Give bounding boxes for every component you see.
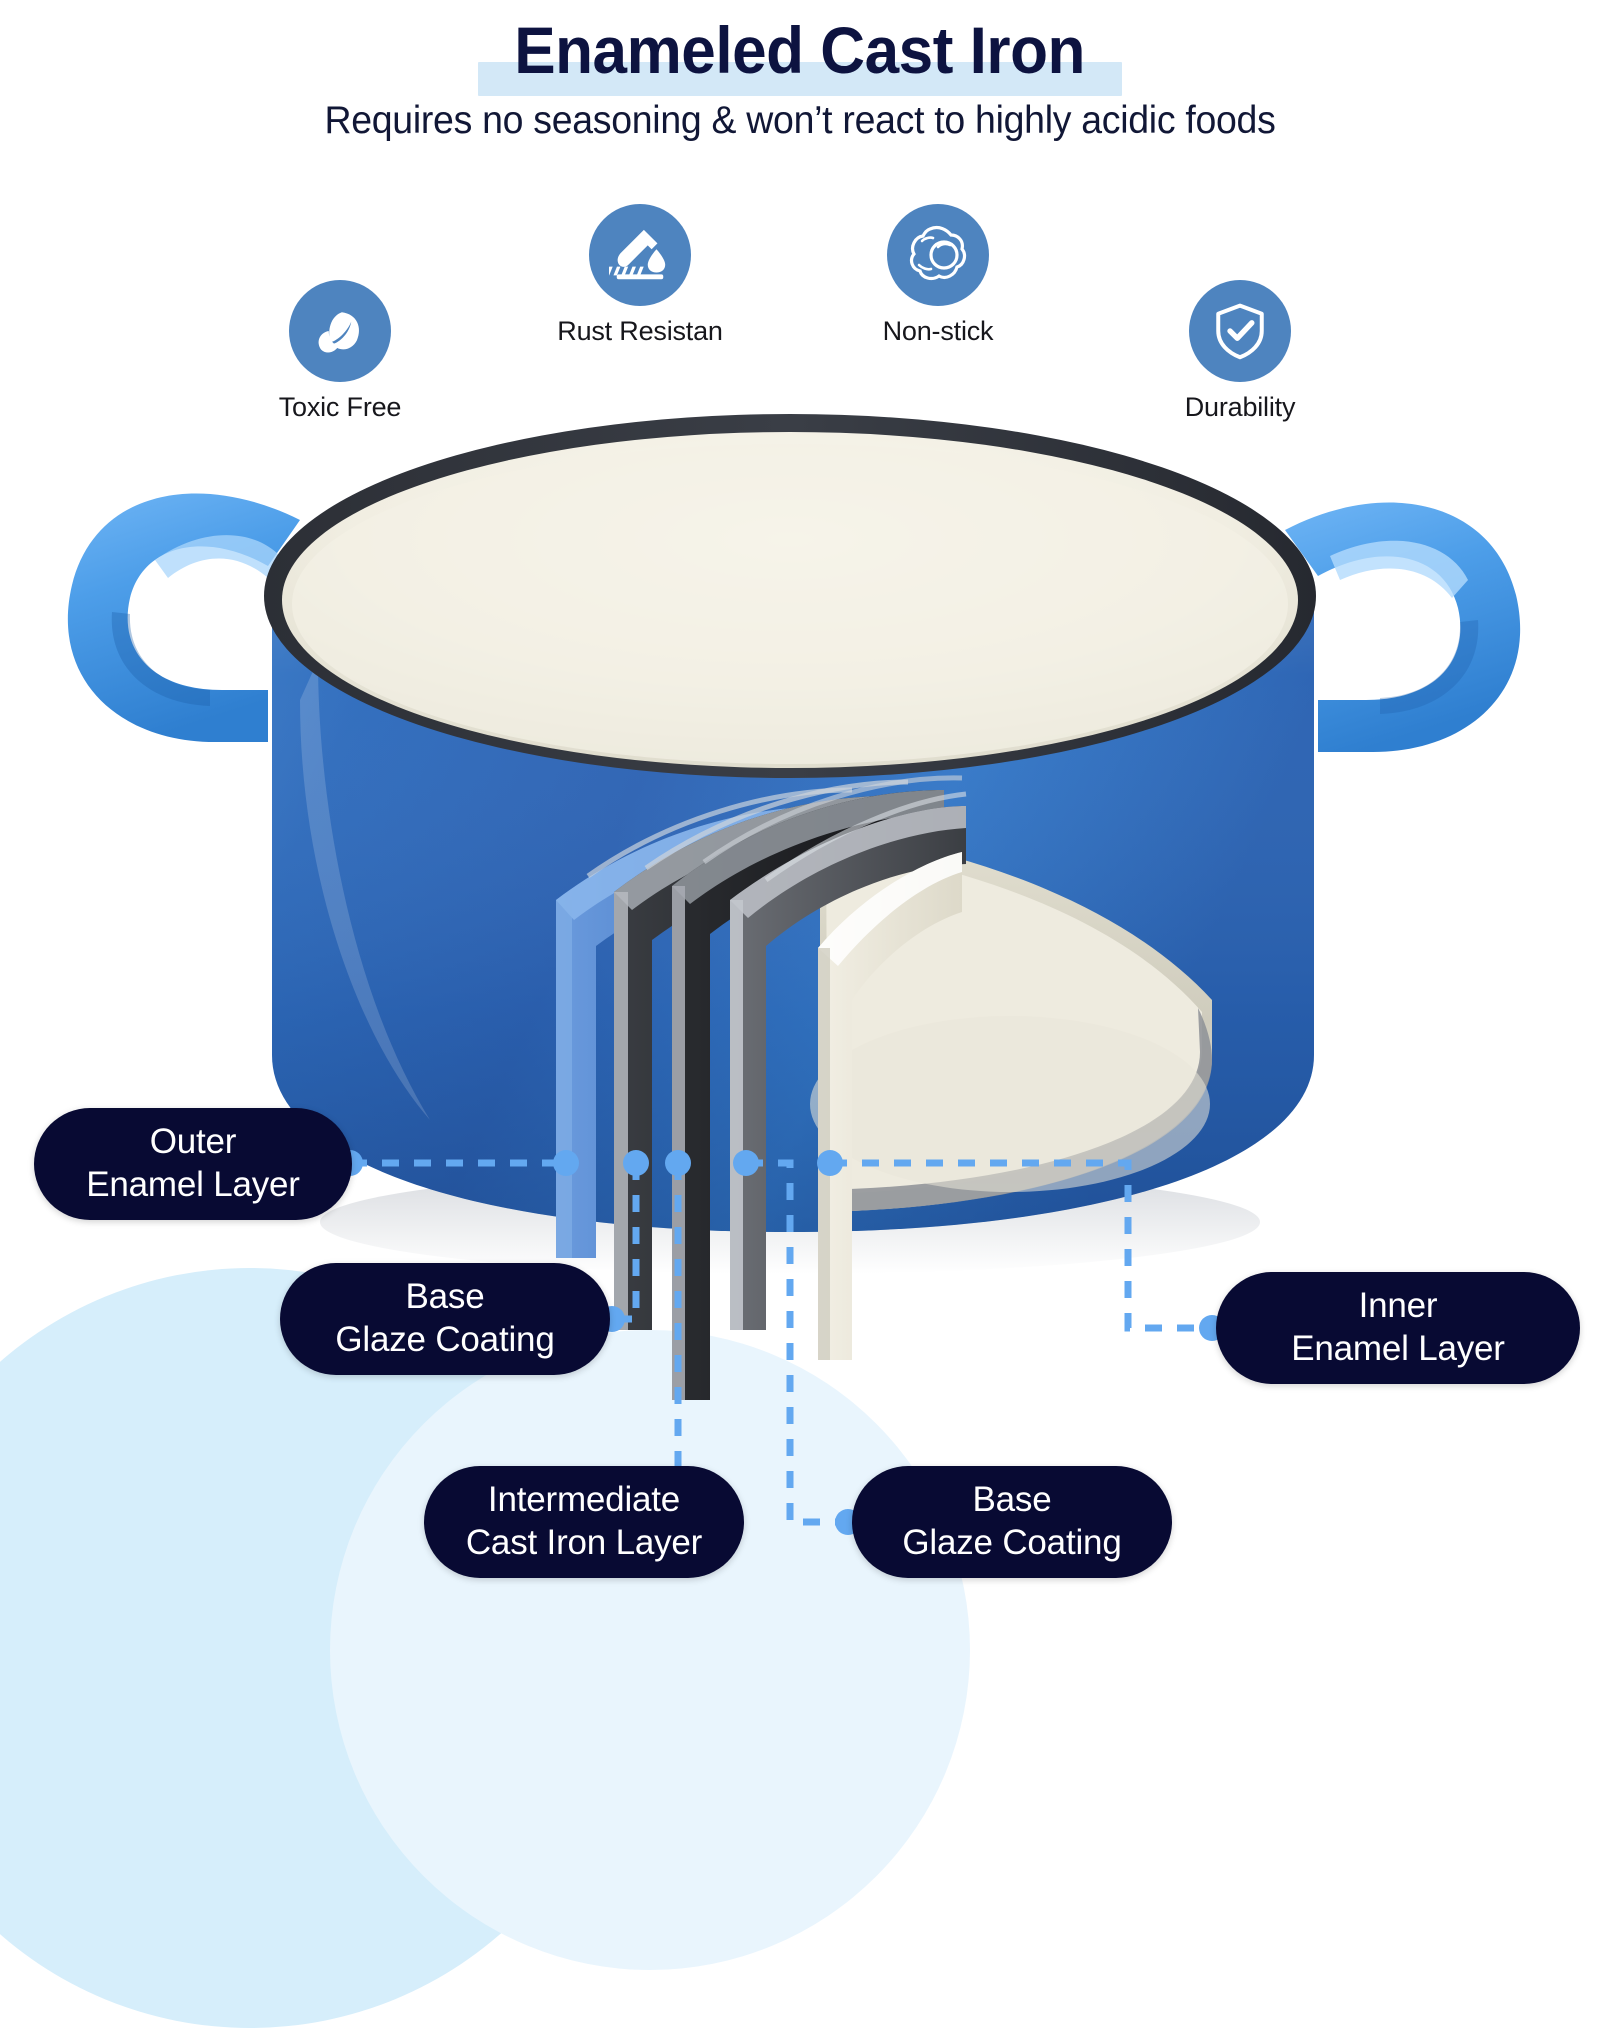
callout-line2: Glaze Coating — [335, 1319, 554, 1362]
feature-label: Non-stick — [818, 316, 1058, 347]
feature-non-stick[interactable]: Non-stick — [818, 204, 1058, 347]
callout-inner-enamel-layer[interactable]: Inner Enamel Layer — [1216, 1272, 1580, 1384]
callout-line2: Enamel Layer — [1291, 1328, 1505, 1371]
feature-label: Rust Resistan — [520, 316, 760, 347]
callout-line2: Cast Iron Layer — [466, 1522, 702, 1565]
fried-egg-icon — [887, 204, 989, 306]
callout-line1: Intermediate — [466, 1479, 702, 1522]
leaf-icon — [289, 280, 391, 382]
feature-list: Toxic Free — [0, 196, 1600, 436]
feature-rust-resistan[interactable]: Rust Resistan — [520, 204, 760, 347]
page-title: Enameled Cast Iron — [515, 16, 1086, 85]
feature-label: Durability — [1120, 392, 1360, 423]
header: Enameled Cast Iron Requires no seasoning… — [0, 0, 1600, 143]
callout-line2: Enamel Layer — [86, 1164, 300, 1207]
callout-outer-enamel-layer[interactable]: Outer Enamel Layer — [34, 1108, 352, 1220]
pot-handle-left — [68, 493, 300, 742]
infographic-canvas: Enameled Cast Iron Requires no seasoning… — [0, 0, 1600, 1600]
shield-check-icon — [1189, 280, 1291, 382]
test-tube-droplet-icon — [589, 204, 691, 306]
feature-toxic-free[interactable]: Toxic Free — [220, 280, 460, 423]
page-title-wrap: Enameled Cast Iron — [496, 16, 1103, 85]
callout-line1: Outer — [86, 1121, 300, 1164]
callout-base-glaze-coating-inner[interactable]: Base Glaze Coating — [852, 1466, 1172, 1578]
pot-handle-right — [1285, 503, 1520, 752]
callout-line1: Base — [335, 1276, 554, 1319]
callout-base-glaze-coating-outer[interactable]: Base Glaze Coating — [280, 1263, 610, 1375]
callout-line1: Inner — [1291, 1285, 1505, 1328]
callout-line2: Glaze Coating — [902, 1522, 1121, 1565]
feature-durability[interactable]: Durability — [1120, 280, 1360, 423]
callout-line1: Base — [902, 1479, 1121, 1522]
callout-intermediate-cast-iron-layer[interactable]: Intermediate Cast Iron Layer — [424, 1466, 744, 1578]
feature-label: Toxic Free — [220, 392, 460, 423]
page-subtitle: Requires no seasoning & won’t react to h… — [32, 99, 1568, 143]
